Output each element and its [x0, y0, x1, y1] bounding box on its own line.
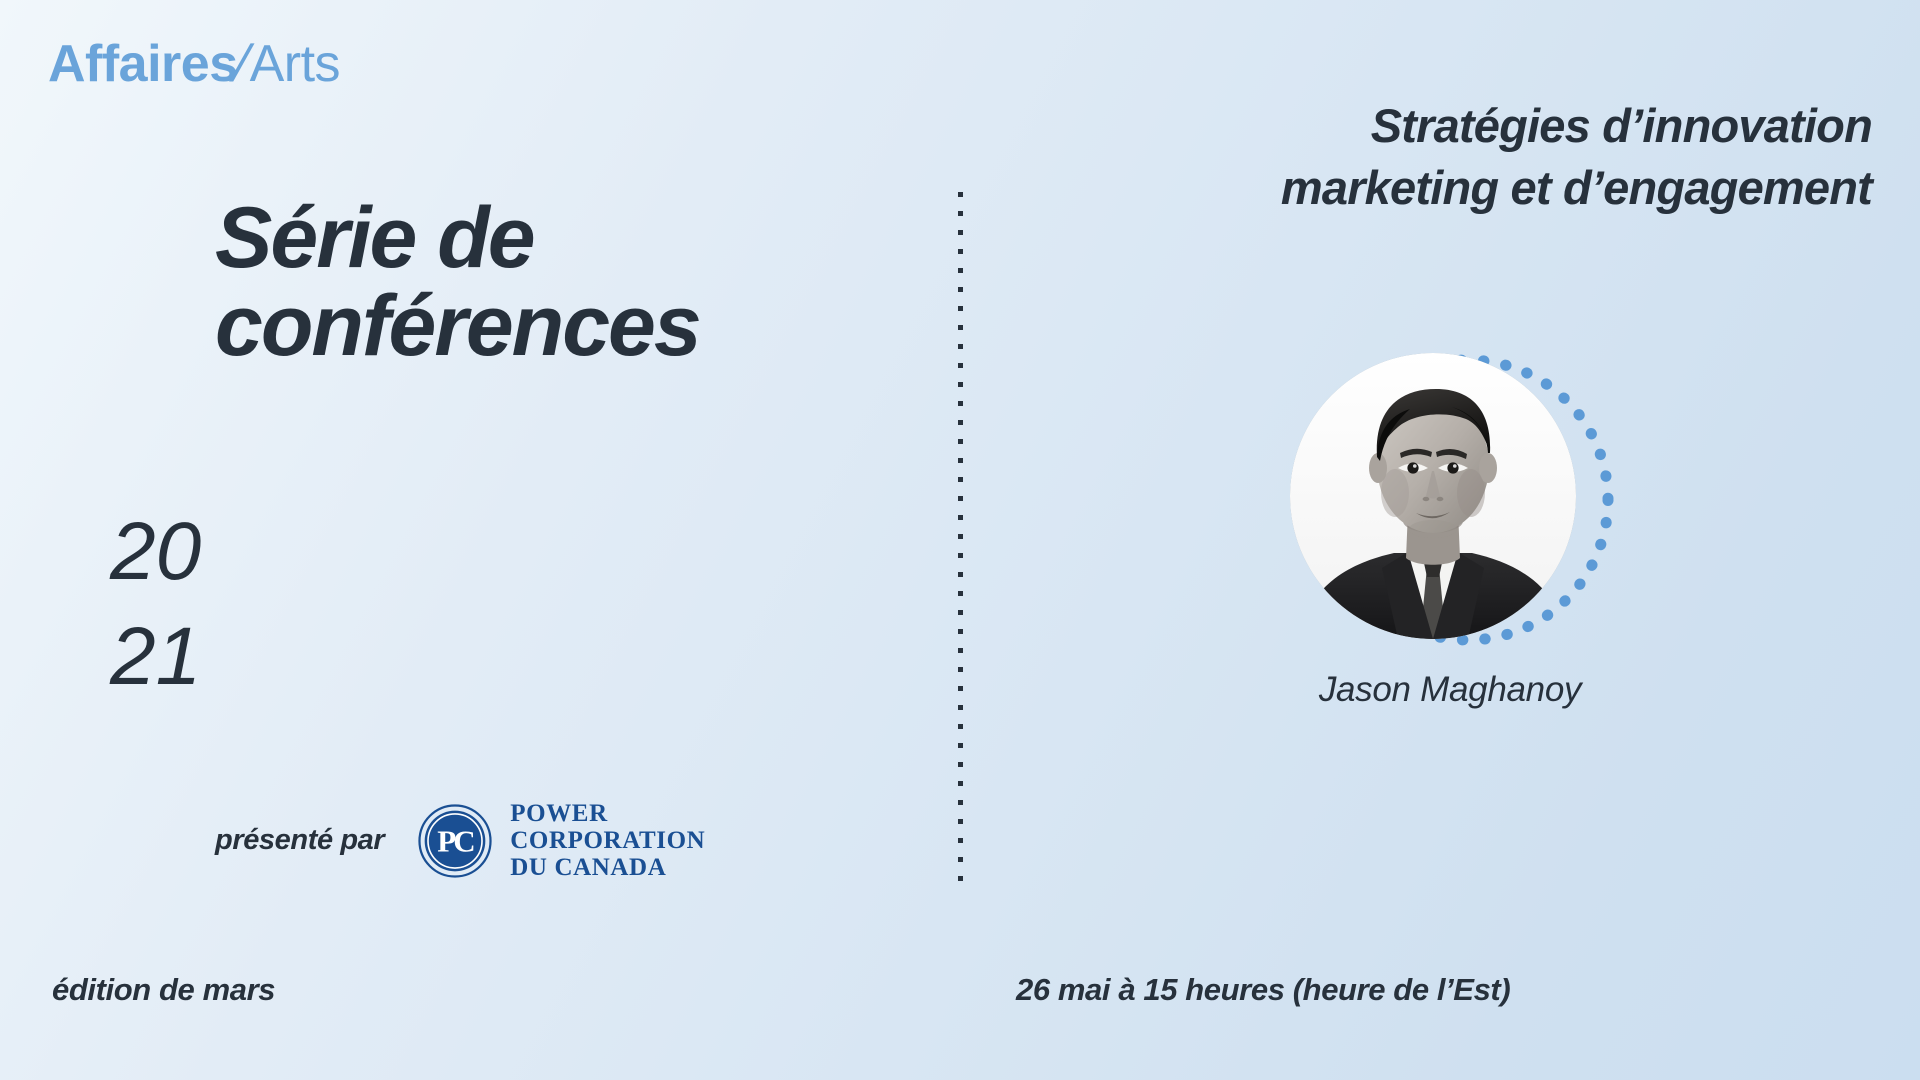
speaker-portrait-wrap: [1290, 345, 1600, 655]
power-corporation-emblem-icon: PC: [418, 804, 492, 878]
event-datetime: 26 mai à 15 heures (heure de l’Est): [1016, 972, 1510, 1008]
speaker-portrait-photo: [1290, 353, 1576, 639]
vertical-dotted-divider: [958, 192, 963, 882]
series-title: Série de conférences: [215, 195, 855, 370]
presented-by-label: présenté par: [215, 824, 384, 857]
brand-logo: Affaires/Arts: [48, 36, 340, 93]
talk-title-line-1: Stratégies d’innovation: [992, 95, 1872, 157]
svg-text:PC: PC: [438, 823, 475, 858]
talk-title: Stratégies d’innovation marketing et d’e…: [992, 95, 1872, 219]
talk-title-line-2: marketing et d’engagement: [992, 157, 1872, 219]
sponsor-logo-power-corporation: PC POWER CORPORATION DU CANADA: [418, 800, 705, 881]
presented-by-row: présenté par PC POWER CORPORATION DU CAN…: [215, 800, 705, 881]
edition-label: édition de mars: [52, 972, 275, 1008]
series-title-line-1: Série de: [215, 190, 534, 286]
speaker-name: Jason Maghanoy: [1240, 670, 1660, 710]
brand-name-arts: Arts: [250, 35, 340, 93]
season-years: 20 21: [110, 500, 201, 710]
year-line-1: 20: [110, 500, 201, 605]
speaker-block: Jason Maghanoy: [1290, 345, 1620, 655]
conference-poster: Affaires/Arts Série de conférences 20 21…: [0, 0, 1920, 1080]
year-line-2: 21: [110, 605, 201, 710]
sponsor-wordmark-line-3: DU CANADA: [510, 854, 705, 881]
brand-name-affaires: Affaires: [48, 35, 238, 93]
sponsor-wordmark-line-1: POWER: [510, 800, 705, 827]
sponsor-wordmark-line-2: CORPORATION: [510, 827, 705, 854]
series-title-line-2: conférences: [215, 278, 700, 374]
sponsor-wordmark: POWER CORPORATION DU CANADA: [510, 800, 705, 881]
speaker-headshot-illustration: [1290, 353, 1576, 639]
